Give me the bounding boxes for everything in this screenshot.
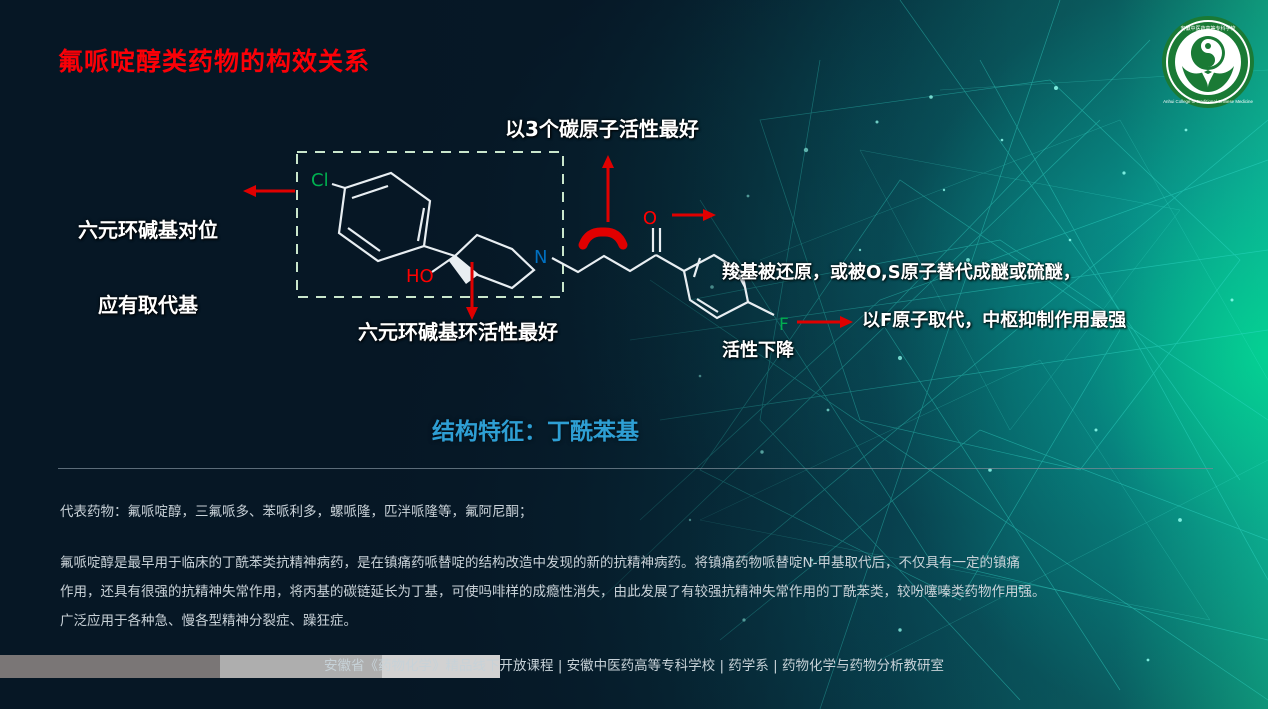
page-title: 氟哌啶醇类药物的构效关系 <box>58 42 370 78</box>
anhui-college-tcm-logo: 安徽中医药高等专科学校 Anhui College of Traditional… <box>1160 14 1256 110</box>
body-paragraph-1: 代表药物：氟哌啶醇，三氟哌多、苯哌利多，螺哌隆，匹泮哌隆等，氟阿尼酮； <box>60 498 1220 527</box>
paragraph-spacer <box>60 527 1220 549</box>
annotation-left-line2: 应有取代基 <box>78 293 218 318</box>
structure-feature-caption: 结构特征：丁酰苯基 <box>432 412 639 446</box>
annotation-carbonyl-line1: 羧基被还原，或被O,S原子替代成醚或硫醚， <box>722 260 1081 286</box>
content-divider <box>58 468 1213 469</box>
svg-text:安徽中医药高等专科学校: 安徽中医药高等专科学校 <box>1180 25 1235 32</box>
svg-text:Anhui College of Traditional C: Anhui College of Traditional Chinese Med… <box>1163 99 1253 104</box>
footer-credit: 安徽省《药物化学》精品线下开放课程 | 安徽中医药高等专科学校 | 药学系 | … <box>0 652 1268 680</box>
annotation-left: 六元环碱基对位 应有取代基 <box>78 168 218 368</box>
annotation-left-line1: 六元环碱基对位 <box>78 218 218 243</box>
body-copy: 代表药物：氟哌啶醇，三氟哌多、苯哌利多，螺哌隆，匹泮哌隆等，氟阿尼酮； 氟哌啶醇… <box>60 498 1220 636</box>
body-paragraph-2-line-1: 氟哌啶醇是最早用于临床的丁酰苯类抗精神病药，是在镇痛药哌替啶的结构改造中发现的新… <box>60 549 1220 578</box>
annotation-fluorine: 以F原子取代，中枢抑制作用最强 <box>862 310 1126 333</box>
annotation-carbonyl-line2: 活性下降 <box>722 338 1081 364</box>
slide-root: 氟哌啶醇类药物的构效关系 安徽中医药高等专科学校 Anhui College o… <box>0 0 1268 709</box>
annotation-piperidine: 六元环碱基环活性最好 <box>358 320 558 345</box>
body-paragraph-2-line-3: 广泛应用于各种急、慢各型精神分裂症、躁狂症。 <box>60 607 1220 636</box>
annotation-top: 以3个碳原子活性最好 <box>505 117 699 142</box>
body-paragraph-2-line-2: 作用，还具有很强的抗精神失常作用，将丙基的碳链延长为丁基，可使吗啡样的成瘾性消失… <box>60 578 1220 607</box>
